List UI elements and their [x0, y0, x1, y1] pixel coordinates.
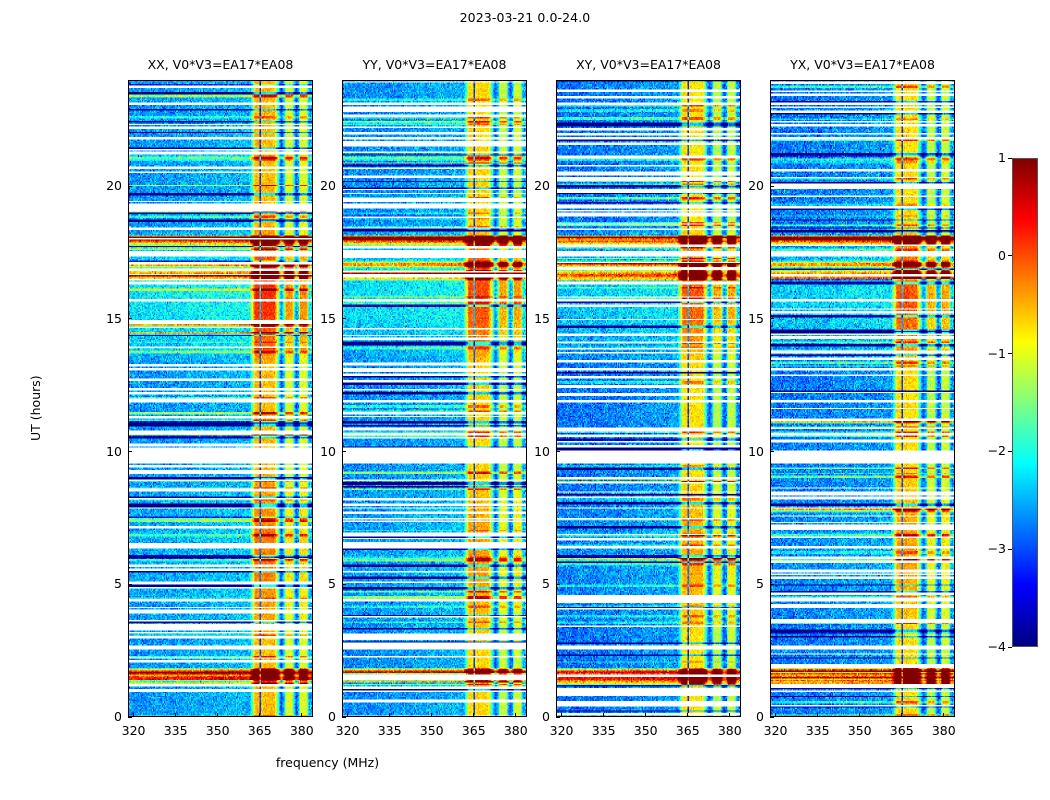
colorbar-tickmark: [1008, 647, 1012, 648]
y-tickmark: [342, 717, 346, 718]
y-axis-label: UT (hours): [28, 375, 43, 441]
y-tick-label-5: 5: [730, 576, 764, 591]
figure-canvas: 2023-03-21 0.0-24.0 XX, V0*V3=EA17*EA08 …: [0, 0, 1050, 800]
x-tickmark: [943, 713, 944, 717]
x-tickmark: [859, 713, 860, 717]
colorbar-frame: [1012, 158, 1038, 647]
x-tick-label-380: 380: [708, 723, 752, 738]
spectrum-panel-xy[interactable]: [556, 80, 741, 717]
y-tickmark: [770, 451, 774, 452]
y-tickmark: [342, 584, 346, 585]
x-tick-label-320: 320: [326, 723, 370, 738]
x-tick-label-335: 335: [582, 723, 626, 738]
y-tickmark: [342, 451, 346, 452]
y-tickmark: [128, 186, 132, 187]
x-tickmark: [603, 713, 604, 717]
x-tickmark: [431, 713, 432, 717]
y-tickmark: [128, 318, 132, 319]
y-tickmark: [556, 451, 560, 452]
spectrum-panel-yx[interactable]: [770, 80, 955, 717]
y-tickmark: [128, 584, 132, 585]
y-tickmark: [556, 318, 560, 319]
y-tick-label-15: 15: [302, 311, 336, 326]
x-tick-label-335: 335: [154, 723, 198, 738]
y-tickmark: [770, 186, 774, 187]
x-tick-label-320: 320: [112, 723, 156, 738]
figure-suptitle: 2023-03-21 0.0-24.0: [0, 10, 1050, 25]
y-tickmark: [770, 584, 774, 585]
x-tickmark: [347, 713, 348, 717]
x-tick-label-365: 365: [880, 723, 924, 738]
x-tick-label-365: 365: [238, 723, 282, 738]
x-tick-label-350: 350: [410, 723, 454, 738]
y-tick-label-10: 10: [730, 444, 764, 459]
spectrum-panel-xx[interactable]: [128, 80, 313, 717]
colorbar-tickmark: [1008, 158, 1012, 159]
y-tick-label-15: 15: [88, 311, 122, 326]
x-tick-label-320: 320: [754, 723, 798, 738]
y-tick-label-0: 0: [730, 709, 764, 724]
y-tickmark: [128, 717, 132, 718]
x-tickmark: [473, 713, 474, 717]
colorbar-tickmark: [1008, 549, 1012, 550]
colorbar-tickmark: [1008, 451, 1012, 452]
x-tickmark: [389, 713, 390, 717]
y-tickmark: [770, 717, 774, 718]
y-tickmark: [556, 186, 560, 187]
colorbar-tickmark: [1008, 353, 1012, 354]
colorbar-tick-label--4: −4: [966, 639, 1006, 654]
y-tickmark: [770, 318, 774, 319]
x-tick-label-350: 350: [196, 723, 240, 738]
x-tick-label-380: 380: [922, 723, 966, 738]
y-tick-label-0: 0: [516, 709, 550, 724]
y-tick-label-5: 5: [516, 576, 550, 591]
colorbar-tick-label--1: −1: [966, 346, 1006, 361]
x-tickmark: [901, 713, 902, 717]
colorbar[interactable]: [1012, 158, 1038, 647]
y-tick-label-15: 15: [730, 311, 764, 326]
y-tick-label-5: 5: [302, 576, 336, 591]
x-tickmark: [133, 713, 134, 717]
x-tick-label-335: 335: [796, 723, 840, 738]
panel-title-xx: XX, V0*V3=EA17*EA08: [128, 57, 313, 72]
y-tick-label-5: 5: [88, 576, 122, 591]
x-axis-label: frequency (MHz): [128, 755, 527, 770]
y-tick-label-10: 10: [516, 444, 550, 459]
x-tick-label-335: 335: [368, 723, 412, 738]
y-tick-label-20: 20: [302, 178, 336, 193]
y-tick-label-10: 10: [88, 444, 122, 459]
x-tickmark: [175, 713, 176, 717]
y-tick-label-15: 15: [516, 311, 550, 326]
spectrum-panel-yy[interactable]: [342, 80, 527, 717]
colorbar-tick-label--2: −2: [966, 443, 1006, 458]
y-tick-label-0: 0: [88, 709, 122, 724]
y-tick-label-0: 0: [302, 709, 336, 724]
x-tickmark: [645, 713, 646, 717]
colorbar-tickmark: [1008, 255, 1012, 256]
colorbar-tick-label-1: 1: [966, 150, 1006, 165]
y-tickmark: [556, 717, 560, 718]
x-tickmark: [217, 713, 218, 717]
x-tickmark: [817, 713, 818, 717]
x-tick-label-320: 320: [540, 723, 584, 738]
y-tickmark: [342, 318, 346, 319]
x-tickmark: [561, 713, 562, 717]
y-tickmark: [342, 186, 346, 187]
x-tick-label-350: 350: [838, 723, 882, 738]
y-tick-label-20: 20: [88, 178, 122, 193]
y-tickmark: [556, 584, 560, 585]
colorbar-tick-label-0: 0: [966, 248, 1006, 263]
x-tickmark: [259, 713, 260, 717]
x-tick-label-380: 380: [494, 723, 538, 738]
x-tick-label-380: 380: [280, 723, 324, 738]
x-tick-label-365: 365: [452, 723, 496, 738]
panel-title-xy: XY, V0*V3=EA17*EA08: [556, 57, 741, 72]
y-tick-label-10: 10: [302, 444, 336, 459]
x-tick-label-350: 350: [624, 723, 668, 738]
y-tick-label-20: 20: [516, 178, 550, 193]
x-tickmark: [775, 713, 776, 717]
panel-title-yx: YX, V0*V3=EA17*EA08: [770, 57, 955, 72]
x-tick-label-365: 365: [666, 723, 710, 738]
y-tick-label-20: 20: [730, 178, 764, 193]
colorbar-tick-label--3: −3: [966, 541, 1006, 556]
panel-title-yy: YY, V0*V3=EA17*EA08: [342, 57, 527, 72]
y-tickmark: [128, 451, 132, 452]
x-tickmark: [687, 713, 688, 717]
